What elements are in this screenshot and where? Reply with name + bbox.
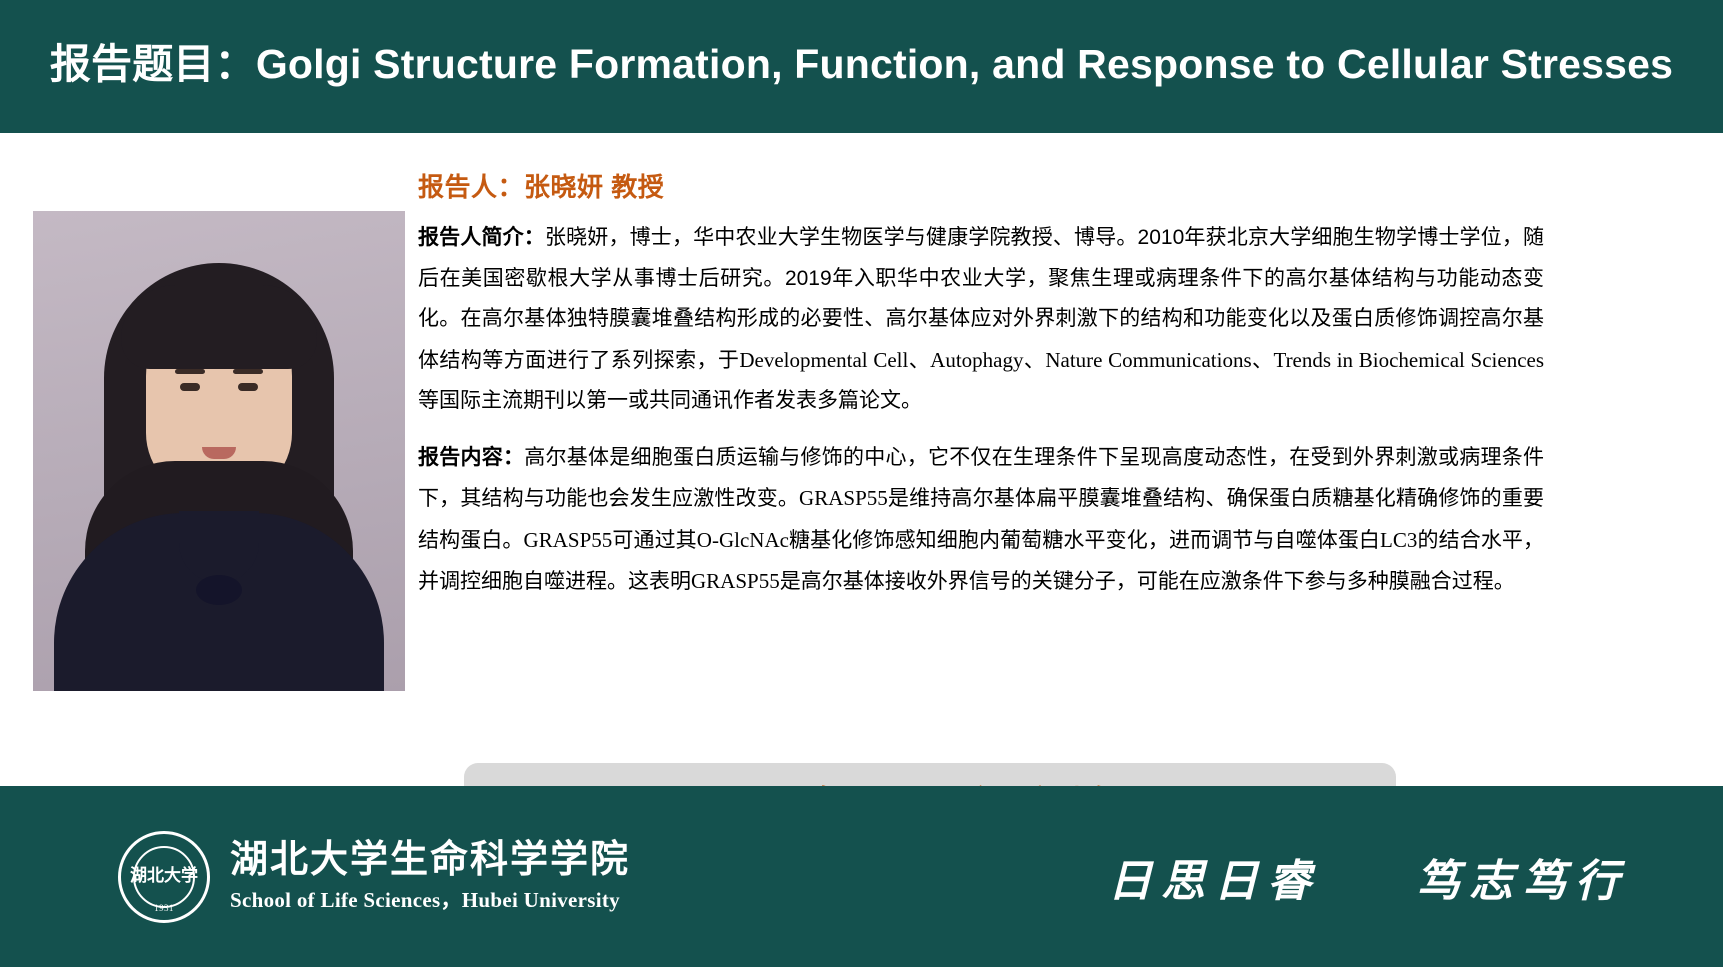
abstract-text-3: 可通过其 bbox=[612, 529, 697, 552]
portrait-image bbox=[33, 211, 405, 691]
bio-label: 报告人简介： bbox=[418, 226, 545, 249]
seal-year: 1931 bbox=[154, 903, 174, 913]
bio-journals: Developmental Cell、Autophagy、Nature Comm… bbox=[739, 348, 1544, 372]
abstract-term-grasp55-1: GRASP55 bbox=[799, 486, 888, 510]
poster-header: 报告题目：Golgi Structure Formation, Function… bbox=[0, 0, 1723, 133]
motto-right: 笃志笃行 bbox=[1416, 845, 1628, 909]
page-title: 报告题目：Golgi Structure Formation, Function… bbox=[50, 38, 1673, 91]
portrait-bow bbox=[196, 575, 242, 605]
text-column: 报告人：张晓妍 教授 报告人简介：张晓妍，博士，华中农业大学生物医学与健康学院教… bbox=[418, 151, 1544, 619]
seal-label: 湖北大学 bbox=[130, 867, 198, 884]
speaker-bio-paragraph: 报告人简介：张晓妍，博士，华中农业大学生物医学与健康学院教授、博导。2010年获… bbox=[418, 218, 1544, 422]
speaker-name-line: 报告人：张晓妍 教授 bbox=[418, 167, 1544, 204]
footer-school-names: 湖北大学生命科学学院 School of Life Sciences，Hubei… bbox=[230, 839, 630, 914]
portrait-eye-right bbox=[238, 383, 258, 391]
speaker-portrait bbox=[33, 211, 405, 691]
abstract-paragraph: 报告内容：高尔基体是细胞蛋白质运输与修饰的中心，它不仅在生理条件下呈现高度动态性… bbox=[418, 438, 1544, 603]
bio-text-2: 等国际主流期刊以第一或共同通讯作者发表多篇论文。 bbox=[418, 389, 922, 412]
abstract-text-4: 糖基化修饰感知细胞内葡萄糖水平变化，进而调节与自噬体蛋白 bbox=[789, 529, 1380, 552]
university-seal-icon: 湖北大学 1931 bbox=[118, 831, 210, 923]
abstract-term-lc3: LC3 bbox=[1380, 528, 1417, 552]
abstract-term-grasp55-3: GRASP55 bbox=[691, 569, 780, 593]
school-name-cn: 湖北大学生命科学学院 bbox=[230, 839, 630, 882]
abstract-text-6: 是高尔基体接收外界信号的关键分子，可能在应激条件下参与多种膜融合过程。 bbox=[780, 570, 1515, 593]
footer-branding: 湖北大学 1931 湖北大学生命科学学院 School of Life Scie… bbox=[118, 831, 630, 923]
portrait-eyebrow-right bbox=[233, 369, 263, 374]
poster-footer: 湖北大学 1931 湖北大学生命科学学院 School of Life Scie… bbox=[0, 786, 1723, 967]
poster-body: 报告人：张晓妍 教授 报告人简介：张晓妍，博士，华中农业大学生物医学与健康学院教… bbox=[0, 133, 1723, 786]
abstract-term-oglcnac: O-GlcNAc bbox=[697, 528, 789, 552]
footer-motto: 日思日睿 笃志笃行 bbox=[1108, 845, 1628, 909]
school-name-en: School of Life Sciences，Hubei University bbox=[230, 884, 630, 914]
portrait-eyebrow-left bbox=[175, 369, 205, 374]
abstract-term-grasp55-2: GRASP55 bbox=[524, 528, 613, 552]
abstract-label: 报告内容： bbox=[418, 446, 524, 469]
portrait-eye-left bbox=[180, 383, 200, 391]
portrait-fringe bbox=[121, 285, 317, 369]
motto-left: 日思日睿 bbox=[1108, 845, 1320, 909]
